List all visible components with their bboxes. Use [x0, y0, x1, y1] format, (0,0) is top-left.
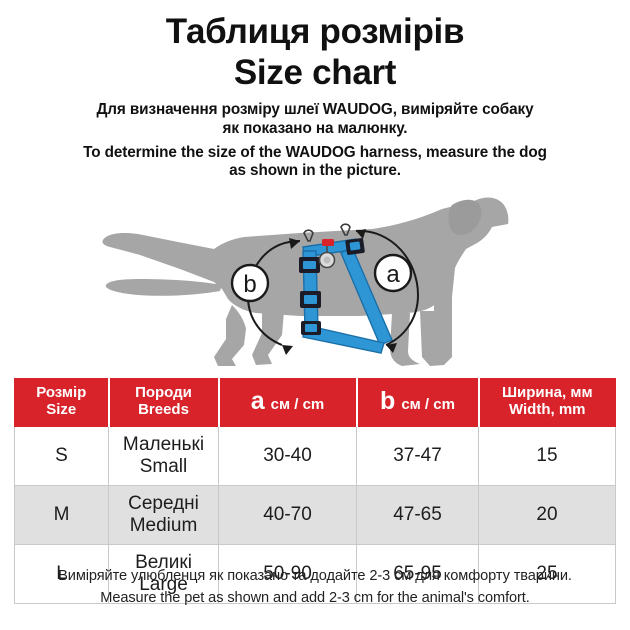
column-header-breeds-en: Breeds [112, 402, 216, 419]
column-header-a: a см / cm [219, 379, 357, 427]
label-b-text: b [243, 271, 256, 298]
size-chart-page: Таблиця розмірів Size chart Для визначен… [0, 0, 630, 630]
label-a-text: a [386, 261, 400, 288]
page-title-ua: Таблиця розмірів [0, 12, 630, 51]
cell-breed: Маленькі Small [109, 426, 219, 485]
cell-breed-en: Medium [111, 515, 216, 537]
cell-breed-en: Small [111, 456, 216, 478]
footer-note: Виміряйте улюбленця як показано та додай… [0, 565, 630, 609]
subtitle-en-line1: To determine the size of the WAUDOG harn… [14, 144, 616, 163]
footer-note-en: Measure the pet as shown and add 2-3 cm … [16, 587, 614, 609]
cell-a: 40-70 [219, 485, 357, 544]
column-header-width: Ширина, мм Width, mm [479, 379, 616, 427]
cell-breed: Середні Medium [109, 485, 219, 544]
cell-size: S [15, 426, 109, 485]
column-header-b-letter: b [380, 389, 395, 414]
cell-b: 37-47 [357, 426, 479, 485]
footer-note-ua: Виміряйте улюбленця як показано та додай… [16, 565, 614, 587]
cell-width: 15 [479, 426, 616, 485]
subtitle-ua: Для визначення розміру шлеї WAUDOG, вимі… [14, 101, 616, 138]
brand-tag [322, 239, 334, 246]
column-header-size: Розмір Size [15, 379, 109, 427]
column-header-b: b см / cm [357, 379, 479, 427]
column-header-size-ua: Розмір [17, 385, 106, 402]
cell-width: 20 [479, 485, 616, 544]
title-block: Таблиця розмірів Size chart [0, 0, 630, 92]
table-row: S Маленькі Small 30-40 37-47 15 [15, 426, 616, 485]
cell-b: 47-65 [357, 485, 479, 544]
table-row: M Середні Medium 40-70 47-65 20 [15, 485, 616, 544]
column-header-a-letter: a [251, 389, 265, 414]
cell-breed-ua: Середні [111, 493, 216, 515]
column-header-b-units: см / cm [401, 397, 455, 414]
subtitle-en: To determine the size of the WAUDOG harn… [14, 144, 616, 181]
column-header-width-en: Width, mm [482, 402, 614, 419]
table-header: Розмір Size Породи Breeds a см / cm [15, 379, 616, 427]
column-header-size-en: Size [17, 402, 106, 419]
header-row: Розмір Size Породи Breeds a см / cm [15, 379, 616, 427]
column-header-width-ua: Ширина, мм [482, 385, 614, 402]
column-header-breeds: Породи Breeds [109, 379, 219, 427]
cell-breed-ua: Маленькі [111, 434, 216, 456]
page-title-en: Size chart [0, 53, 630, 92]
cell-size: M [15, 485, 109, 544]
subtitle-en-line2: as shown in the picture. [14, 162, 616, 181]
cell-a: 30-40 [219, 426, 357, 485]
dog-harness-illustration: a b [0, 185, 630, 371]
column-header-a-units: см / cm [271, 397, 325, 414]
column-header-breeds-ua: Породи [112, 385, 216, 402]
subtitle-ua-line2: як показано на малюнку. [14, 120, 616, 139]
subtitle-ua-line1: Для визначення розміру шлеї WAUDOG, вимі… [14, 101, 616, 120]
subtitle-block: Для визначення розміру шлеї WAUDOG, вимі… [0, 101, 630, 181]
